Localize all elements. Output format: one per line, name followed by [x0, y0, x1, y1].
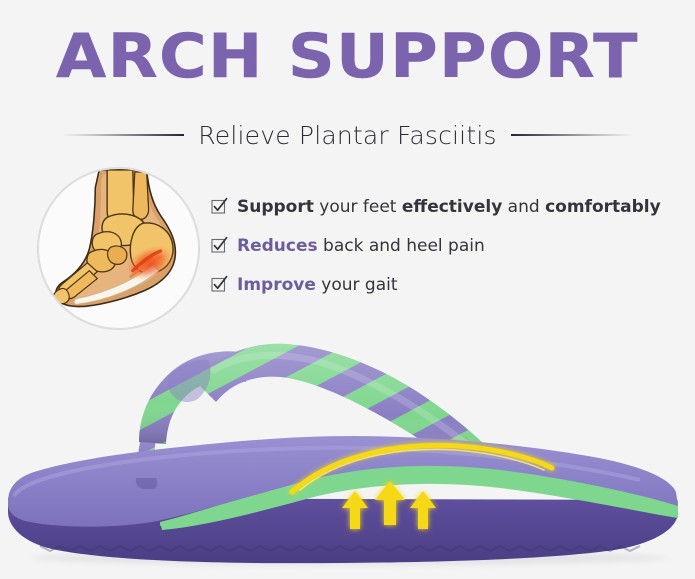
benefit-text-2: Reduces back and heel pain	[237, 235, 485, 257]
list-item: Reduces back and heel pain	[211, 235, 681, 257]
divider-line-left	[62, 134, 184, 136]
checked-box-icon	[211, 235, 228, 255]
foot-anatomy-icon	[38, 168, 199, 329]
benefit-2-part-0: Reduces	[237, 236, 318, 256]
fibula-bone	[133, 172, 149, 219]
sandal-illustration	[0, 330, 695, 579]
list-item: Improve your gait	[211, 274, 681, 296]
benefit-1-part-0: Support	[237, 197, 314, 217]
benefit-text-1: Support your feet effectively and comfor…	[237, 196, 661, 218]
checked-box-icon	[211, 196, 228, 216]
subtitle-row: Relieve Plantar Fasciitis	[0, 118, 695, 152]
benefit-list: Support your feet effectively and comfor…	[211, 196, 681, 296]
benefit-3-part-1: your gait	[316, 275, 398, 295]
product-feature-poster: ARCH SUPPORT Relieve Plantar Fasciitis	[0, 0, 695, 579]
page-title: ARCH SUPPORT	[0, 26, 695, 87]
benefit-1-part-4: comfortably	[545, 197, 661, 217]
benefit-1-part-3: and	[502, 197, 545, 217]
foot-anatomy-illustration	[37, 167, 200, 330]
divider-line-right	[511, 134, 633, 136]
benefit-text-3: Improve your gait	[237, 274, 398, 296]
list-item: Support your feet effectively and comfor…	[211, 196, 681, 218]
page-subtitle: Relieve Plantar Fasciitis	[198, 121, 496, 150]
benefit-1-part-1: your feet	[314, 197, 402, 217]
benefit-3-part-0: Improve	[237, 275, 316, 295]
product-image	[0, 330, 695, 579]
benefit-2-part-1: back and heel pain	[318, 236, 485, 256]
benefit-1-part-2: effectively	[402, 197, 502, 217]
checked-box-icon	[211, 274, 228, 294]
